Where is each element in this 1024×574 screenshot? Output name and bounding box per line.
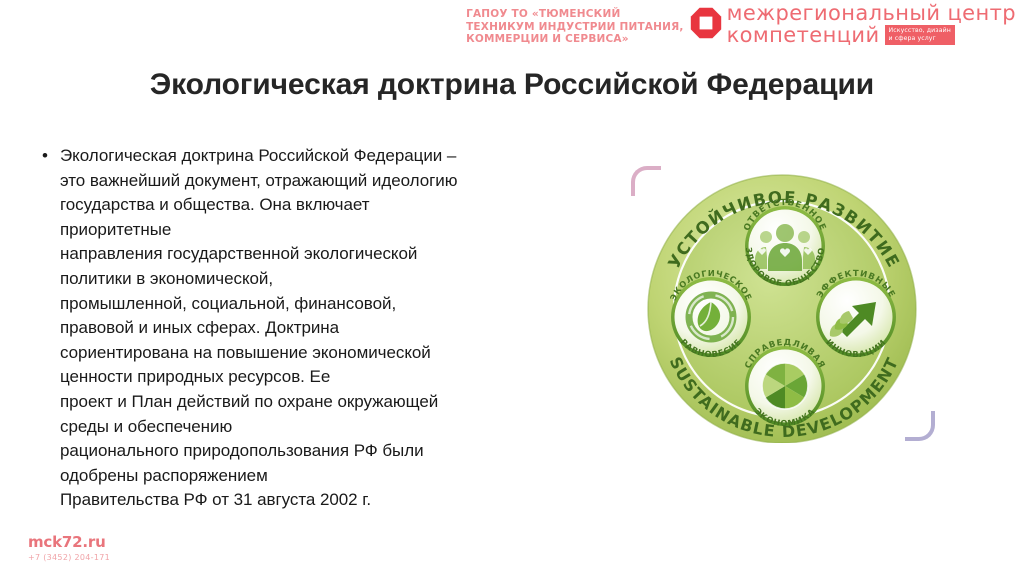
bullet-paragraph: Экологическая доктрина Российской Федера… bbox=[60, 144, 457, 513]
footer-phone[interactable]: +7 (3452) 204-171 bbox=[28, 553, 110, 562]
node-economy: СПРАВЕДЛИВАЯ ЭКОНОМИКА bbox=[743, 338, 827, 428]
footer-branding: mck72.ru +7 (3452) 204-171 bbox=[28, 533, 110, 562]
sustainable-development-diagram: УСТОЙЧИВОЕ РАЗВИТИЕ SUSTAINABLE DEVELOPM… bbox=[638, 171, 926, 443]
octagon-mark-icon bbox=[690, 7, 722, 39]
node-society: ОТВЕТСТВЕННОЕ ЗДОРОВОЕ ОБЩЕСТВО bbox=[742, 198, 827, 288]
footer-website[interactable]: mck72.ru bbox=[28, 533, 110, 551]
node-innovation: ЭФФЕКТИВНЫЕ ИННОВАЦИИ bbox=[815, 269, 897, 359]
organization-name: ГАПОУ ТО «ТЮМЕНСКИЙ ТЕХНИКУМ ИНДУСТРИИ П… bbox=[466, 3, 684, 46]
header-logo-bar: ГАПОУ ТО «ТЮМЕНСКИЙ ТЕХНИКУМ ИНДУСТРИИ П… bbox=[466, 3, 1016, 46]
pie-chart-icon bbox=[762, 363, 809, 409]
bullet-marker-icon: • bbox=[38, 144, 60, 169]
brand-line-2: компетенций bbox=[727, 25, 880, 46]
node-ecology: ЭКОЛОГИЧЕСКОЕ РАВНОВЕСИЕ bbox=[668, 268, 754, 359]
brand-line-2-row: компетенций Искусство, дизайн и сфера ус… bbox=[727, 25, 1016, 46]
slide-canvas: ГАПОУ ТО «ТЮМЕНСКИЙ ТЕХНИКУМ ИНДУСТРИИ П… bbox=[0, 0, 1024, 574]
page-title: Экологическая доктрина Российской Федера… bbox=[0, 68, 1024, 102]
sustainable-development-figure: УСТОЙЧИВОЕ РАЗВИТИЕ SUSTAINABLE DEVELOPM… bbox=[630, 165, 935, 445]
brand-wordmark: межрегиональный центр компетенций Искусс… bbox=[727, 3, 1016, 46]
list-item: • Экологическая доктрина Российской Феде… bbox=[38, 144, 598, 513]
content-body: • Экологическая доктрина Российской Феде… bbox=[38, 144, 598, 513]
brand-line-1: межрегиональный центр bbox=[727, 3, 1016, 24]
mck-brand-logo: межрегиональный центр компетенций Искусс… bbox=[690, 3, 1016, 46]
brand-tagline-badge: Искусство, дизайн и сфера услуг bbox=[885, 25, 955, 44]
